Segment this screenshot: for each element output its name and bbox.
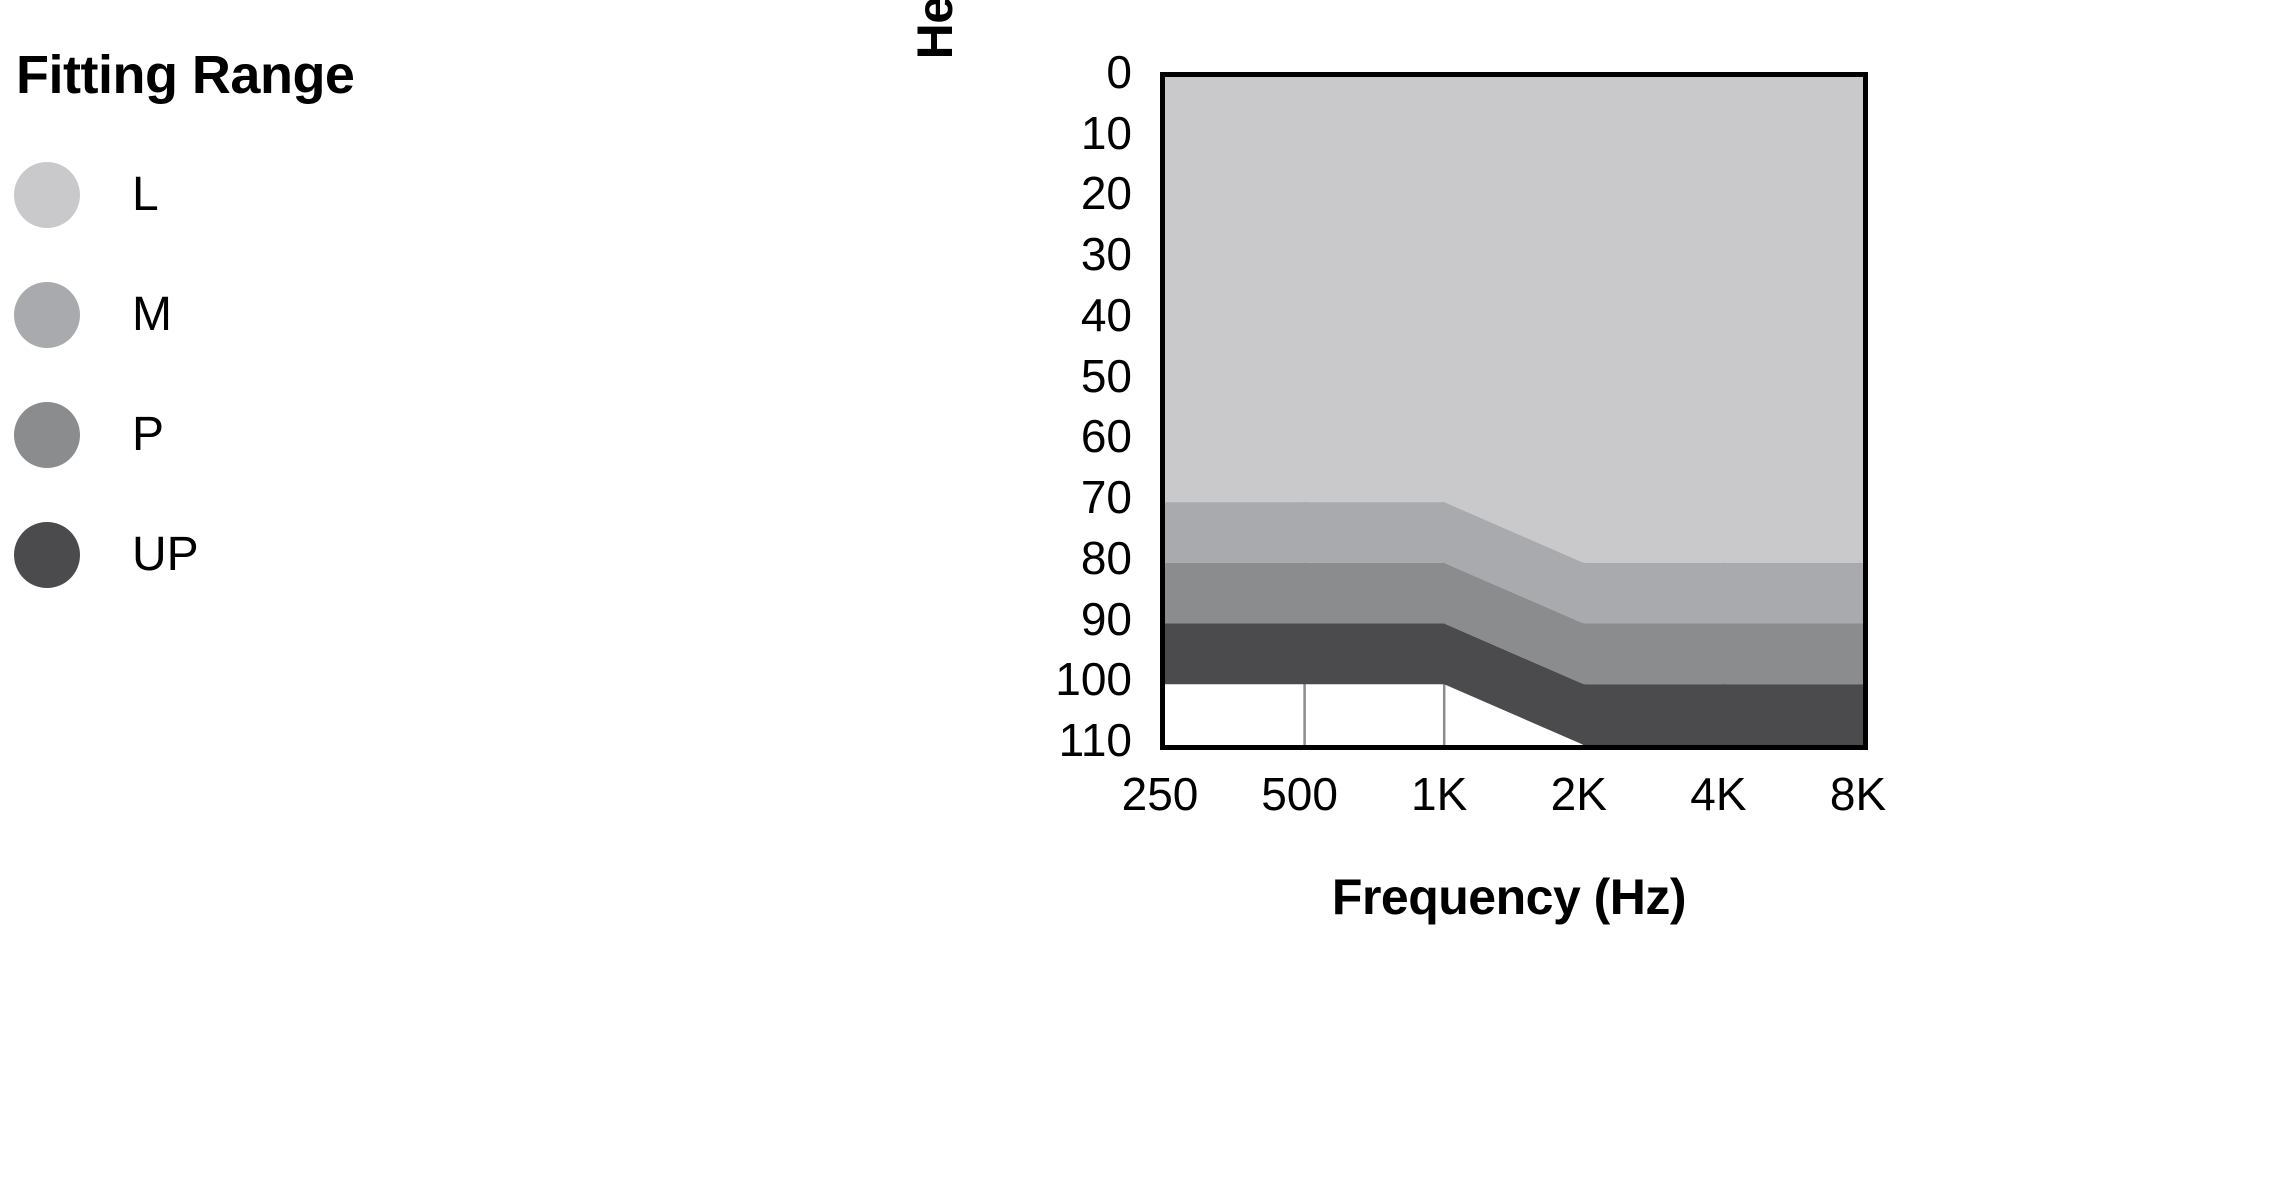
legend-item-l[interactable]: L bbox=[8, 154, 528, 236]
y-tick-label: 70 bbox=[980, 474, 1132, 520]
legend-swatch-l-circle-icon bbox=[14, 162, 80, 228]
legend-swatch-m-circle-icon bbox=[14, 282, 80, 348]
y-tick-label: 30 bbox=[980, 231, 1132, 277]
y-tick-label: 0 bbox=[980, 49, 1132, 95]
y-tick-label: 50 bbox=[980, 353, 1132, 399]
legend-item-up[interactable]: UP bbox=[8, 514, 528, 596]
fitting-range-area-chart bbox=[1165, 77, 1863, 745]
legend-item-m[interactable]: M bbox=[8, 274, 528, 356]
legend-swatch-p-circle-icon bbox=[14, 402, 80, 468]
fitting-range-legend: Fitting Range L M P UP bbox=[8, 48, 528, 634]
legend-title: Fitting Range bbox=[16, 48, 528, 102]
x-axis-title: Frequency (Hz) bbox=[1160, 868, 1858, 926]
y-tick-label: 110 bbox=[980, 717, 1132, 763]
y-tick-label: 100 bbox=[980, 656, 1132, 702]
y-axis-tick-labels: 0102030405060708090100110 bbox=[980, 0, 1132, 820]
x-tick-label: 2K bbox=[1551, 766, 1607, 822]
legend-label-up: UP bbox=[132, 531, 199, 579]
y-tick-label: 60 bbox=[980, 413, 1132, 459]
y-tick-label: 90 bbox=[980, 596, 1132, 642]
y-tick-label: 10 bbox=[980, 110, 1132, 156]
y-tick-label: 80 bbox=[980, 535, 1132, 581]
x-tick-label: 1K bbox=[1411, 766, 1467, 822]
audiogram-plot-area bbox=[1160, 72, 1868, 750]
legend-label-l: L bbox=[132, 171, 159, 219]
x-tick-label: 500 bbox=[1261, 766, 1338, 822]
y-axis-title: Hearing Level in dB (HL) bbox=[900, 0, 970, 125]
y-tick-label: 20 bbox=[980, 170, 1132, 216]
x-tick-label: 8K bbox=[1830, 766, 1886, 822]
legend-label-p: P bbox=[132, 411, 164, 459]
x-tick-label: 4K bbox=[1690, 766, 1746, 822]
x-axis-tick-labels: 2505001K2K4K8K bbox=[1160, 766, 1858, 826]
x-tick-label: 250 bbox=[1122, 766, 1199, 822]
legend-swatch-up-circle-icon bbox=[14, 522, 80, 588]
y-tick-label: 40 bbox=[980, 292, 1132, 338]
band-l bbox=[1165, 77, 1863, 563]
legend-item-p[interactable]: P bbox=[8, 394, 528, 476]
legend-label-m: M bbox=[132, 291, 172, 339]
